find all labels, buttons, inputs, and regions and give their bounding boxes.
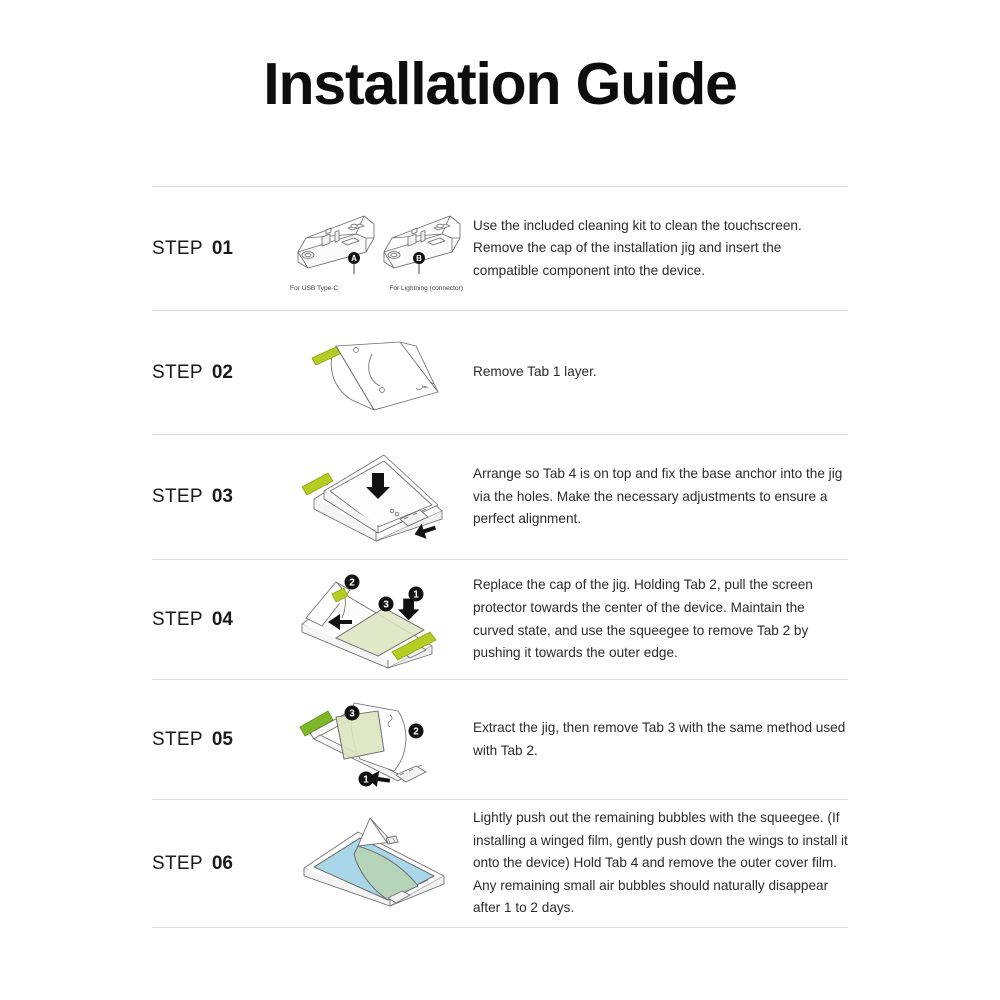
caption-usb-type-c: For USB Type-C (290, 285, 338, 292)
step-number: 06 (212, 853, 233, 874)
step-label: STEP01 (152, 238, 288, 260)
step-label: STEP03 (152, 486, 288, 508)
step-row: STEP02 (152, 311, 848, 435)
step-label-word: STEP (152, 486, 203, 507)
step-figure: 3 2 1 (288, 689, 463, 791)
step-label: STEP02 (152, 362, 288, 384)
callout-2-label: 2 (349, 577, 355, 588)
step-label: STEP05 (152, 729, 288, 751)
step-row: STEP06 (152, 800, 848, 928)
figure-captions: For USB Type-C For Lightning (connector) (288, 285, 463, 292)
caption-lightning: For Lightning (connector) (389, 285, 463, 292)
step-number: 01 (212, 238, 233, 259)
screen-protector-tab1-peel-icon (296, 330, 456, 416)
step-label-word: STEP (152, 238, 203, 259)
callout-3-label: 3 (349, 708, 355, 719)
step-row: STEP03 (152, 435, 848, 560)
step-label-word: STEP (152, 609, 203, 630)
step-number: 03 (212, 486, 233, 507)
jig-pair-figure: A B For USB Type-C For Lightning (connec… (288, 208, 463, 290)
page-title: Installation Guide (0, 52, 1000, 117)
step-row: STEP04 (152, 560, 848, 680)
step-description: Replace the cap of the jig. Holding Tab … (463, 574, 848, 664)
step-label-word: STEP (152, 729, 203, 750)
installation-jig-pair-icon: A B (288, 208, 463, 290)
step-figure (288, 449, 463, 545)
step-number: 04 (212, 609, 233, 630)
pull-tab2-with-squeegee-icon: 1 2 3 (292, 568, 460, 672)
step-number: 05 (212, 729, 233, 750)
step-label-word: STEP (152, 853, 203, 874)
step-description: Remove Tab 1 layer. (463, 361, 848, 384)
marker-a-label: A (351, 254, 357, 263)
remove-outer-cover-film-icon (292, 812, 460, 916)
extract-jig-remove-tab3-icon: 3 2 1 (292, 689, 460, 791)
step-number: 02 (212, 362, 233, 383)
callout-2-label: 2 (413, 726, 419, 737)
step-label: STEP04 (152, 609, 288, 631)
callout-3-label: 3 (383, 599, 389, 610)
step-figure: 1 2 3 (288, 568, 463, 672)
device-seated-in-jig-icon (296, 449, 456, 545)
step-figure (288, 330, 463, 416)
step-row: STEP01 (152, 187, 848, 311)
step-label: STEP06 (152, 853, 288, 875)
step-description: Use the included cleaning kit to clean t… (463, 215, 848, 283)
step-description: Lightly push out the remaining bubbles w… (463, 807, 848, 920)
callout-1-label: 1 (363, 774, 369, 785)
step-figure: A B For USB Type-C For Lightning (connec… (288, 208, 463, 290)
step-row: STEP05 (152, 680, 848, 800)
step-label-word: STEP (152, 362, 203, 383)
step-figure (288, 812, 463, 916)
step-description: Arrange so Tab 4 is on top and fix the b… (463, 463, 848, 531)
step-description: Extract the jig, then remove Tab 3 with … (463, 717, 848, 762)
installation-guide-page: Installation Guide STEP01 (0, 0, 1000, 1000)
marker-b-label: B (416, 254, 422, 263)
callout-1-label: 1 (413, 589, 419, 600)
steps-list: STEP01 (152, 186, 848, 928)
